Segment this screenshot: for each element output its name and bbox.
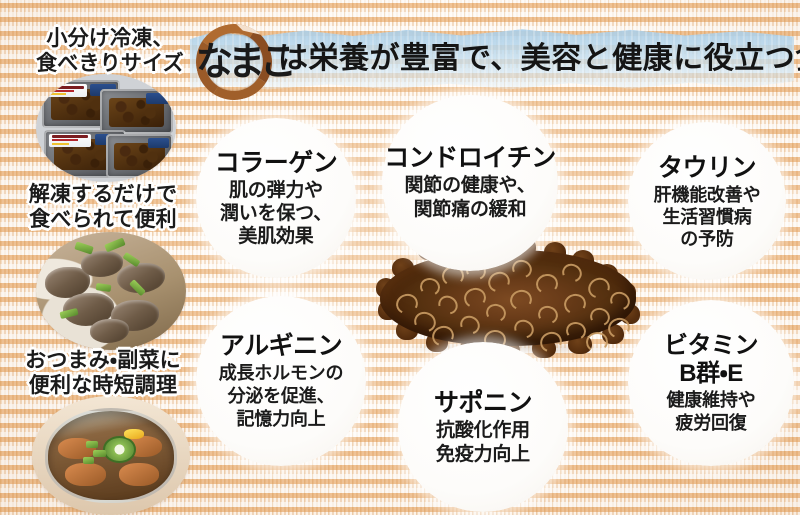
glass-bowl: [45, 408, 178, 503]
nutrient-description: 成長ホルモンの 分泌を促進、 記憶力向上: [219, 362, 344, 431]
nutrient-title: ビタミン B群・E: [664, 332, 758, 388]
namako-piece: [65, 463, 106, 486]
nutrient-bubble-collagen[interactable]: コラーゲン 肌の弾力や 潤いを保つ、 美肌効果: [196, 118, 356, 278]
nutrient-title: タウリン: [658, 153, 756, 183]
photo-inner: [36, 232, 186, 350]
photo-inner: [32, 396, 190, 515]
nutrient-title: コンドロイチン: [384, 144, 556, 173]
yuzu-peel-garnish: [124, 429, 144, 440]
nutrient-title: アルギニン: [220, 331, 342, 361]
nutrient-bubble-saponin[interactable]: サポニン 抗酸化作用 免疫力向上: [398, 342, 568, 512]
cucumber-garnish: [103, 436, 136, 463]
nutrient-bubble-taurine[interactable]: タウリン 肝機能改善や 生活習慣病 の予防: [628, 122, 786, 280]
green-onion: [122, 252, 140, 267]
packaged-frozen-trays-photo: [36, 74, 176, 182]
nutrient-bubble-arginine[interactable]: アルギニン 成長ホルモンの 分泌を促進、 記憶力向上: [196, 296, 366, 466]
photo-inner: [36, 74, 176, 182]
brush-calligraphy-namako: なまこ: [196, 28, 280, 94]
product-label: [49, 134, 91, 147]
feature-caption-thaw-and-eat: 解凍するだけで 食べられて便利: [10, 182, 196, 232]
product-tray: [106, 134, 173, 177]
namako-piece: [81, 251, 123, 277]
nutrient-description: 肌の弾力や 潤いを保つ、 美肌効果: [220, 179, 332, 248]
thawed-namako-dish-photo: [36, 232, 186, 350]
nutrient-bubble-chondroitin[interactable]: コンドロイチン 関節の健康や、 関節痛の緩和: [382, 95, 558, 271]
product-label-blue: [148, 138, 169, 148]
namako-side-dish-bowl-photo: [32, 396, 190, 515]
green-onion: [93, 450, 106, 457]
product-label: [47, 84, 87, 97]
nutrient-description: 関節の健康や、 関節痛の緩和: [404, 174, 535, 222]
green-onion: [96, 283, 112, 292]
feature-caption-quick-cooking: おつまみ・副菜に 便利な時短調理: [8, 348, 198, 398]
nutrient-title: サポニン: [434, 388, 532, 418]
namako-piece: [119, 463, 160, 486]
sea-cucumber-body: [380, 250, 636, 346]
green-onion: [83, 457, 94, 463]
nutrient-description: 抗酸化作用 免疫力向上: [436, 419, 530, 467]
nutrient-description: 肝機能改善や 生活習慣病 の予防: [654, 184, 761, 250]
headline-text: は栄養が豊富で、美容と健康に役立つ食材！: [278, 33, 793, 85]
namako-piece: [90, 319, 129, 343]
nutrient-title: コラーゲン: [215, 148, 338, 178]
infographic-canvas: なまこ は栄養が豊富で、美容と健康に役立つ食材！: [0, 0, 800, 515]
nutrient-description: 健康維持や 疲労回復: [667, 389, 756, 435]
green-onion: [74, 241, 94, 254]
product-label-blue: [146, 93, 169, 104]
feature-caption-frozen-portions: 小分け冷凍、 食べきりサイズ: [20, 26, 200, 76]
product-tray: [100, 89, 173, 134]
green-onion: [104, 238, 125, 253]
nutrient-bubble-vitamin-b-e[interactable]: ビタミン B群・E 健康維持や 疲労回復: [628, 300, 794, 466]
green-onion: [86, 441, 99, 448]
